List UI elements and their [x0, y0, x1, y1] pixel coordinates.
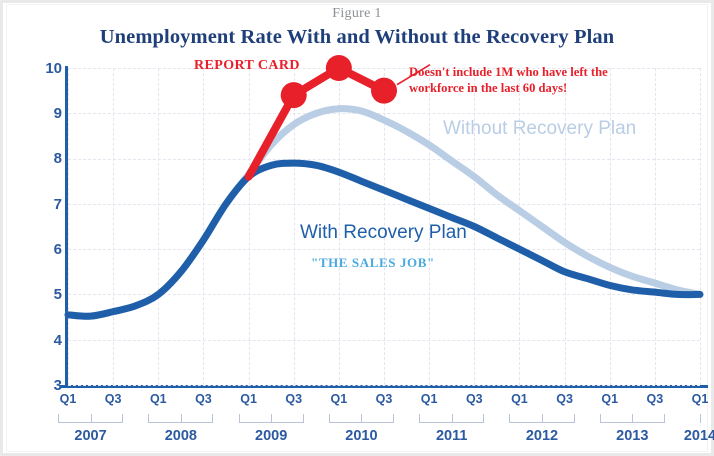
label-with-recovery-plan: With Recovery Plan: [300, 222, 467, 244]
annotation-workforce-note: Doesn't include 1M who have left the wor…: [409, 64, 659, 96]
x-tick-4-q1: Q1: [234, 392, 264, 406]
year-tick-2012: [542, 414, 543, 423]
year-tick-2010: [361, 414, 362, 423]
y-tick-4: 4: [22, 332, 62, 349]
x-tick-13-q3: Q3: [640, 392, 670, 406]
annotation-workforce-note-line2: workforce in the last 60 days!: [409, 80, 659, 96]
year-tick-2007: [91, 414, 92, 423]
gridline-v-28: [700, 68, 701, 385]
year-tick-2011: [452, 414, 453, 423]
x-tick-8-q1: Q1: [414, 392, 444, 406]
year-label-2007: 2007: [56, 428, 126, 444]
year-label-2014: 2014: [665, 428, 714, 444]
year-label-2009: 2009: [236, 428, 306, 444]
x-tick-14-q1: Q1: [685, 392, 714, 406]
label-without-recovery-plan: Without Recovery Plan: [443, 118, 636, 140]
x-tick-11-q3: Q3: [550, 392, 580, 406]
x-tick-9-q3: Q3: [459, 392, 489, 406]
x-tick-7-q3: Q3: [369, 392, 399, 406]
chart-figure: Figure 1 Unemployment Rate With and With…: [0, 0, 714, 456]
report-card-marker-3: [371, 78, 397, 104]
year-label-2013: 2013: [597, 428, 667, 444]
x-tick-12-q1: Q1: [595, 392, 625, 406]
year-tick-2013: [632, 414, 633, 423]
report-card-marker-2: [326, 55, 352, 81]
year-tick-2008: [181, 414, 182, 423]
y-tick-8: 8: [22, 150, 62, 167]
y-axis-tick-labels: 10 9 8 7 6 5 4 3: [18, 0, 62, 456]
y-tick-9: 9: [22, 105, 62, 122]
gridline-h-3: [68, 385, 700, 386]
year-label-2011: 2011: [417, 428, 487, 444]
x-tick-2-q1: Q1: [143, 392, 173, 406]
year-label-2010: 2010: [326, 428, 396, 444]
x-tick-5-q3: Q3: [279, 392, 309, 406]
y-tick-5: 5: [22, 286, 62, 303]
x-tick-3-q3: Q3: [188, 392, 218, 406]
x-tick-10-q1: Q1: [504, 392, 534, 406]
x-tick-0-q1: Q1: [53, 392, 83, 406]
year-tick-2014: [700, 414, 701, 423]
chart-title: Unemployment Rate With and Without the R…: [0, 26, 714, 49]
annotation-workforce-note-line1: Doesn't include 1M who have left the: [409, 64, 659, 80]
report-card-marker-1: [281, 82, 307, 108]
year-tick-2009: [271, 414, 272, 423]
year-label-2012: 2012: [507, 428, 577, 444]
figure-label: Figure 1: [0, 6, 714, 22]
y-tick-7: 7: [22, 196, 62, 213]
y-tick-10: 10: [22, 60, 62, 77]
y-tick-6: 6: [22, 241, 62, 258]
x-tick-6-q1: Q1: [324, 392, 354, 406]
x-tick-1-q3: Q3: [98, 392, 128, 406]
year-label-2008: 2008: [146, 428, 216, 444]
line-report-card: [249, 68, 384, 177]
label-sales-job: "THE SALES JOB": [311, 255, 435, 271]
annotation-report-card: REPORT CARD: [194, 58, 300, 74]
